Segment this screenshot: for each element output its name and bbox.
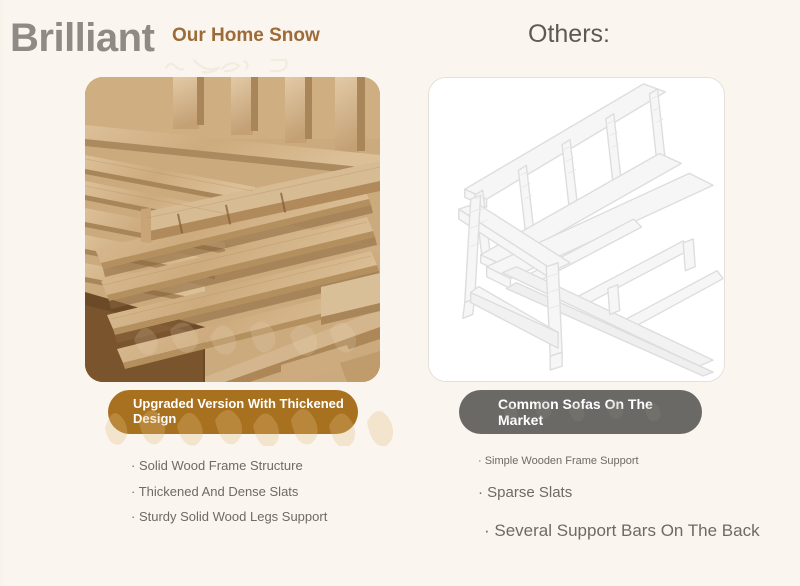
list-item: · Several Support Bars On The Back	[484, 521, 798, 541]
left-edge-tint	[0, 0, 3, 586]
brand-subtitle: Our Home Snow	[172, 26, 320, 45]
brand-header: Brilliant Our Home Snow	[0, 0, 420, 80]
list-item: · Solid Wood Frame Structure	[131, 458, 381, 474]
list-item: · Sparse Slats	[478, 484, 798, 502]
common-sofa-frame-line-illustration	[428, 77, 725, 382]
common-sofas-badge-label: Common Sofas On The Market	[459, 396, 702, 428]
common-sofas-badge[interactable]: Common Sofas On The Market	[459, 390, 702, 434]
upgraded-version-badge-label: Upgraded Version With Thickened Design	[108, 397, 358, 427]
brand-title: Brilliant	[10, 18, 154, 58]
others-section-title: Others:	[528, 22, 610, 47]
right-feature-list: · Simple Wooden Frame Support · Sparse S…	[478, 455, 798, 552]
list-item: · Sturdy Solid Wood Legs Support	[131, 509, 381, 525]
list-item: · Thickened And Dense Slats	[131, 484, 381, 500]
left-feature-list: · Solid Wood Frame Structure · Thickened…	[131, 458, 381, 535]
solid-wood-slat-frame-photo	[85, 77, 380, 382]
list-item: · Simple Wooden Frame Support	[478, 455, 798, 468]
comparison-infographic: Brilliant Our Home Snow Others:	[0, 0, 800, 586]
upgraded-version-badge[interactable]: Upgraded Version With Thickened Design	[108, 390, 358, 434]
